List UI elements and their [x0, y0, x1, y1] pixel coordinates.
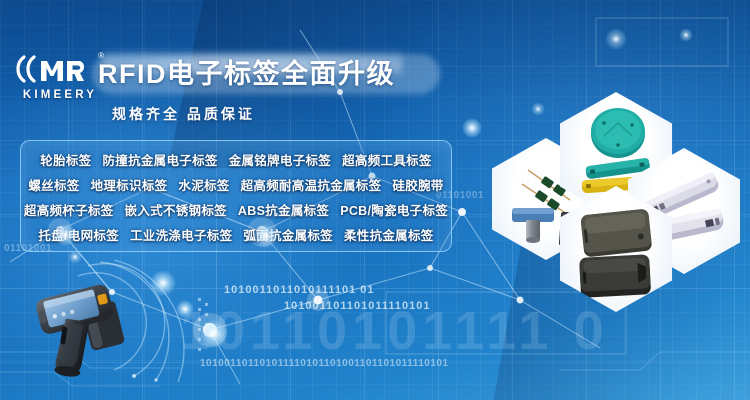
- binary-decoration-line-2: 101001101101011110101: [284, 300, 430, 312]
- page-subtitle: 规格齐全 品质保证: [112, 104, 255, 124]
- sparkle-glow: [462, 118, 482, 138]
- tag-item: 超高频耐高温抗金属标签: [241, 175, 382, 194]
- tag-row: 超高频杯子标签 嵌入式不锈钢标签 ABS抗金属标签 PCB/陶瓷电子标签: [21, 197, 451, 222]
- tag-item: 工业洗涤电子标签: [130, 225, 232, 244]
- tag-item: 柔性抗金属标签: [344, 225, 434, 244]
- tag-item: 超高频工具标签: [342, 150, 432, 169]
- title-block: RFID电子标签全面升级: [98, 52, 448, 96]
- tag-row: 托盘/电网标签 工业洗涤电子标签 弧面抗金属标签 柔性抗金属标签: [21, 222, 451, 247]
- tag-item: 地理标识标签: [91, 175, 168, 194]
- tag-item: PCB/陶瓷电子标签: [340, 200, 448, 219]
- tag-item: 防撞抗金属电子标签: [102, 150, 217, 169]
- tag-item: ABS抗金属标签: [238, 200, 329, 219]
- hex-bottom-dark-tags: [560, 186, 672, 312]
- sparkle-glow: [176, 300, 194, 318]
- tag-item: 硅胶腕带: [392, 175, 443, 194]
- rfid-promo-banner: 10110101111 0 1010011011010111101 01 101…: [0, 0, 750, 400]
- tag-item: 轮胎标签: [40, 150, 91, 169]
- sparkle-glow: [200, 320, 228, 348]
- tag-item: 螺丝标签: [28, 175, 79, 194]
- tag-row: 螺丝标签 地理标识标签 水泥标签 超高频耐高温抗金属标签 硅胶腕带: [21, 172, 451, 197]
- binary-decoration-line-1: 1010011011010111101 01: [224, 284, 375, 296]
- tag-item: 水泥标签: [178, 175, 229, 194]
- tag-item: 托盘/电网标签: [38, 225, 119, 244]
- tag-item: 超高频杯子标签: [24, 200, 114, 219]
- product-tag-list-panel: 轮胎标签 防撞抗金属电子标签 金属铭牌电子标签 超高频工具标签 螺丝标签 地理标…: [20, 140, 452, 252]
- page-title: RFID电子标签全面升级: [98, 52, 448, 96]
- binary-decoration-line-3: 1010011011010111101011010011011010111101…: [200, 358, 449, 369]
- tag-item: 金属铭牌电子标签: [229, 150, 331, 169]
- company-name: KIMEERY: [14, 89, 106, 101]
- sparkle-glow: [254, 224, 278, 248]
- sparkle-glow: [150, 270, 176, 296]
- sparkle-glow: [54, 224, 76, 246]
- tag-item: 嵌入式不锈钢标签: [125, 200, 227, 219]
- tag-row: 轮胎标签 防撞抗金属电子标签 金属铭牌电子标签 超高频工具标签: [21, 147, 451, 172]
- radio-wave-decoration: [70, 258, 200, 388]
